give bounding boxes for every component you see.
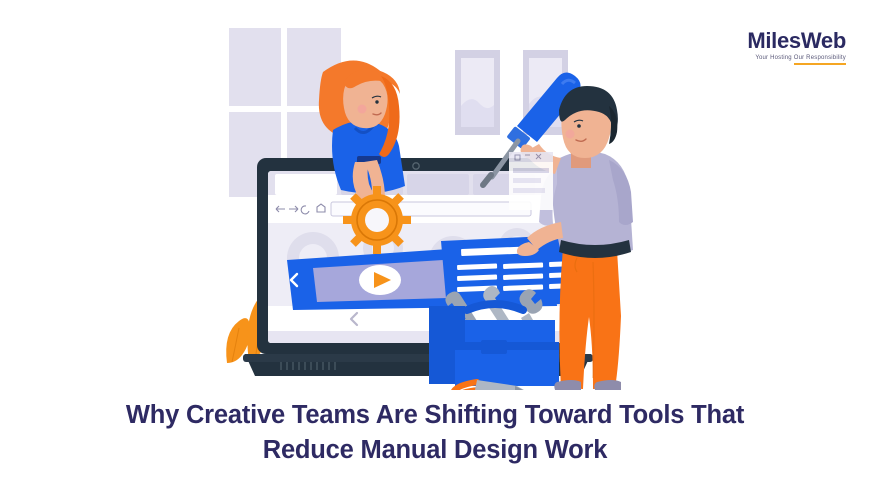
gear — [343, 186, 411, 254]
page-canvas: MilesWeb Your Hosting Our Responsibility — [0, 0, 870, 500]
logo-wordmark: MilesWeb — [747, 30, 846, 52]
page-title: Why Creative Teams Are Shifting Toward T… — [0, 398, 870, 468]
hero-illustration — [205, 10, 675, 390]
brand-logo[interactable]: MilesWeb Your Hosting Our Responsibility — [747, 30, 846, 65]
toolbox — [429, 286, 559, 386]
logo-tagline: Your Hosting Our Responsibility — [747, 55, 846, 61]
picture-frame-left — [455, 50, 500, 135]
page-title-line-2: Reduce Manual Design Work — [40, 433, 830, 468]
mini-window — [509, 152, 553, 210]
logo-underline — [794, 63, 846, 65]
logo-word-miles: Miles — [747, 28, 801, 53]
logo-word-web: Web — [801, 28, 846, 53]
page-title-line-1: Why Creative Teams Are Shifting Toward T… — [40, 398, 830, 433]
